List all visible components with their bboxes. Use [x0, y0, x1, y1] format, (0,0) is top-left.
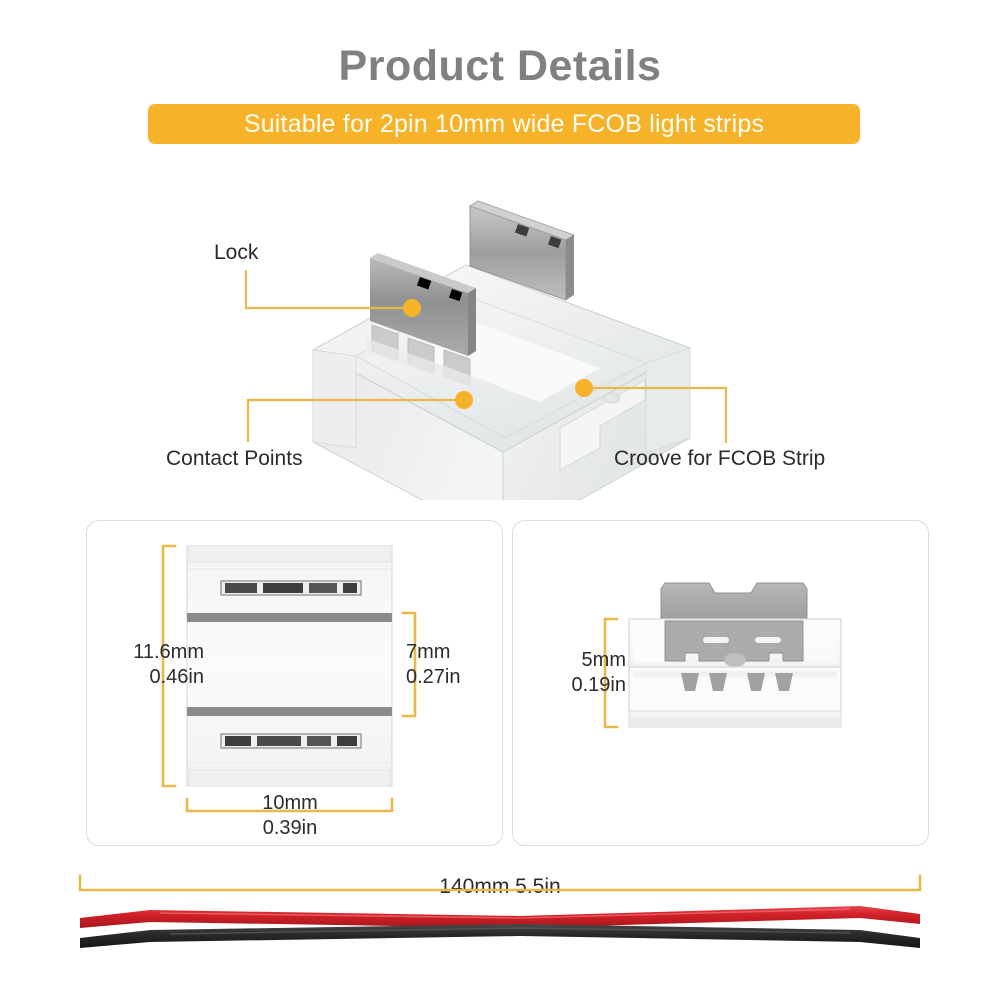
- callout-label-groove: Croove for FCOB Strip: [614, 447, 825, 471]
- sv-upper-highlight-left: [633, 623, 669, 663]
- subtitle-text: Suitable for 2pin 10mm wide FCOB light s…: [244, 110, 764, 139]
- page-title: Product Details: [0, 45, 1000, 88]
- tv-top-lip: [189, 546, 390, 562]
- lock-bar-far-end: [566, 235, 574, 300]
- wire-illustration: [0, 862, 1000, 992]
- callout-dot-groove: [575, 379, 593, 397]
- callout-dot-contact: [455, 391, 473, 409]
- callout-dot-lock: [403, 299, 421, 317]
- tv-band-upper: [187, 613, 392, 622]
- sv-upper-highlight-right: [805, 623, 837, 663]
- dimension-label-inner-height: 7mm 0.27in: [406, 640, 494, 690]
- tv-band-lower: [187, 707, 392, 716]
- dim-width-in: 0.39in: [222, 816, 358, 841]
- tv-contact-strip-lower: [221, 734, 361, 748]
- sv-base-plate: [629, 711, 841, 719]
- dim-height-mm: 11.6mm: [133, 641, 204, 663]
- groove-dimple: [604, 393, 620, 403]
- subtitle-banner: Suitable for 2pin 10mm wide FCOB light s…: [148, 104, 860, 144]
- sv-center-boss: [724, 653, 746, 667]
- wire-black: [80, 924, 920, 948]
- hero-illustration: [0, 160, 1000, 500]
- sv-lock-plate-top: [661, 583, 807, 621]
- tv-contact-strip-upper: [221, 581, 361, 595]
- callout-label-contact-points: Contact Points: [166, 447, 303, 471]
- tv-bottom-lip: [189, 770, 390, 786]
- dim-depth-mm: 7mm: [406, 641, 450, 663]
- connector-side-view: [629, 583, 841, 727]
- connector-top-view: [187, 546, 392, 786]
- bracket-wire-length: [80, 876, 920, 890]
- lock-bar-near-end: [468, 288, 476, 356]
- dimension-label-width: 10mm 0.39in: [222, 791, 358, 841]
- body-right-wall: [646, 348, 690, 453]
- dim-side-in: 0.19in: [530, 673, 626, 698]
- sv-base-shadow: [629, 719, 841, 727]
- dim-width-mm: 10mm: [262, 792, 318, 814]
- wire-length-bracket: [80, 876, 920, 890]
- dimension-label-overall-height: 11.6mm 0.46in: [96, 640, 204, 690]
- dimension-label-side-height: 5mm 0.19in: [530, 648, 626, 698]
- dim-height-in: 0.46in: [96, 665, 204, 690]
- connector-3d-diagram: [0, 160, 1000, 500]
- sv-lower-edge: [633, 671, 837, 677]
- dim-depth-in: 0.27in: [406, 665, 494, 690]
- wire-drawing: [0, 862, 1000, 992]
- callout-label-lock: Lock: [214, 241, 258, 265]
- sv-slot-right: [755, 637, 781, 643]
- dim-side-mm: 5mm: [582, 649, 626, 671]
- sv-slot-left: [703, 637, 729, 643]
